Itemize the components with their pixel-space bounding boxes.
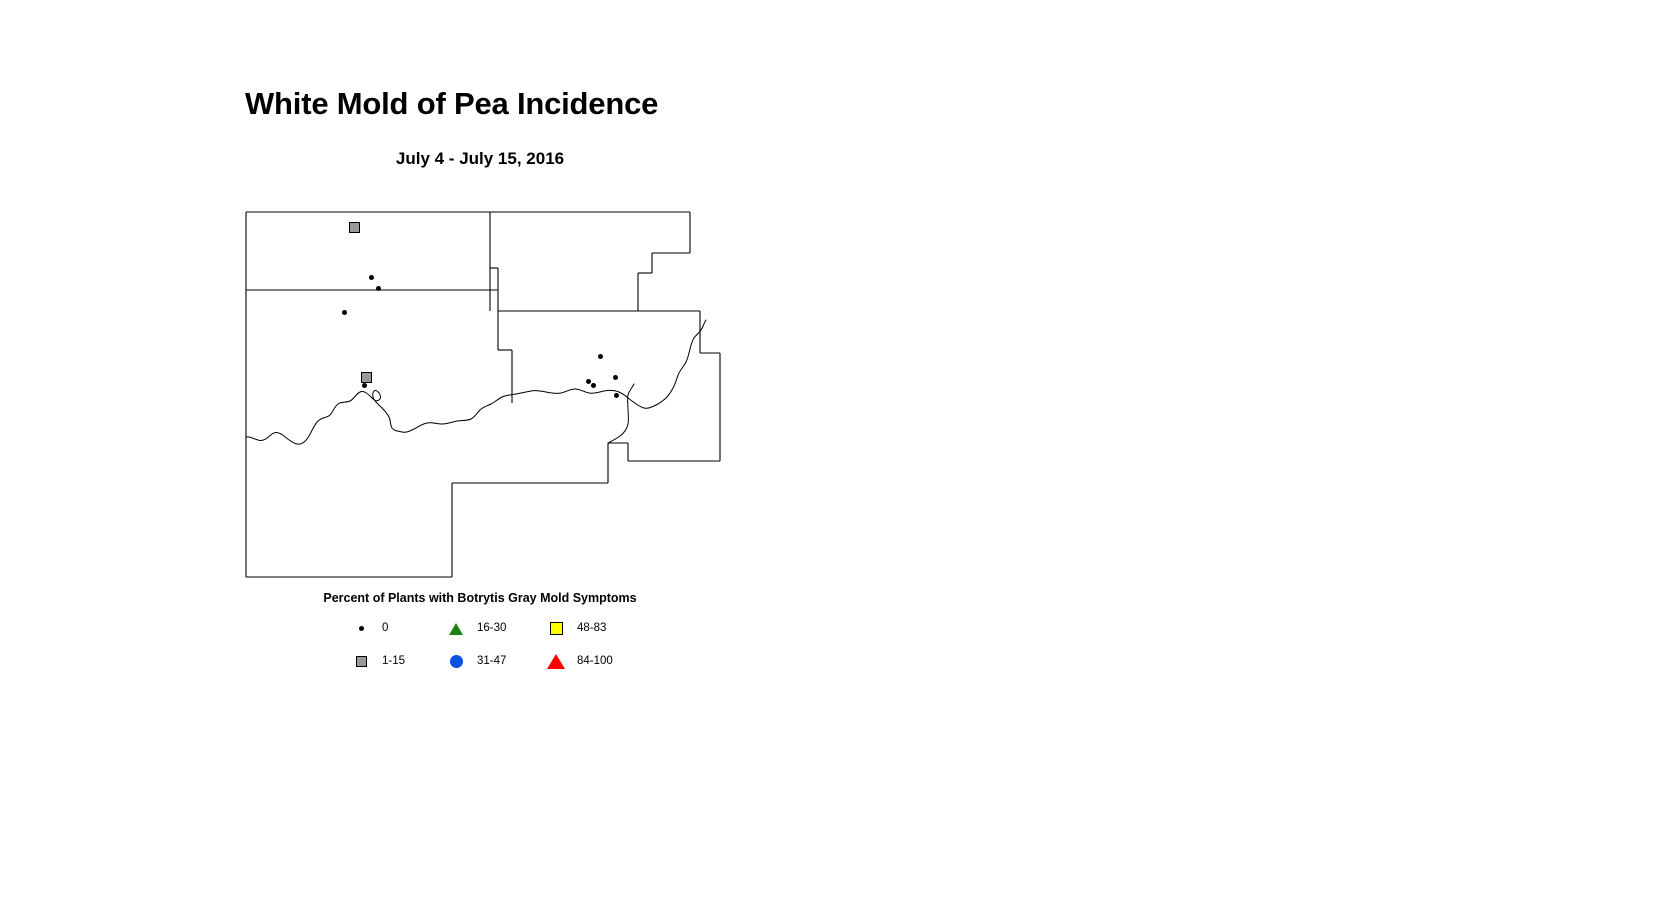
map-data-point-dot[interactable]: [342, 310, 347, 315]
map-data-point-dot[interactable]: [369, 275, 374, 280]
figure-canvas: White Mold of Pea Incidence July 4 - Jul…: [0, 0, 1673, 900]
square-marker-icon: [550, 622, 563, 635]
map-data-point-dot[interactable]: [598, 354, 603, 359]
legend-entry-1-15[interactable]: 1-15: [350, 654, 405, 670]
map-data-point-dot[interactable]: [586, 379, 591, 384]
legend-entry-label: 84-100: [577, 656, 613, 668]
map-data-point-square[interactable]: [361, 372, 372, 383]
page-subtitle: July 4 - July 15, 2016: [245, 150, 715, 167]
legend-entry-48-83[interactable]: 48-83: [545, 621, 606, 637]
legend-entry-31-47[interactable]: 31-47: [445, 654, 506, 670]
county-boundaries: [246, 212, 720, 577]
legend-swatch-triangle-icon: [445, 621, 467, 637]
legend-swatch-circle-icon: [445, 654, 467, 670]
map-panel: [240, 205, 735, 590]
page-title: White Mold of Pea Incidence: [245, 88, 658, 119]
legend-entry-label: 0: [382, 623, 388, 635]
square-marker-icon: [356, 656, 367, 667]
map-data-point-dot[interactable]: [376, 286, 381, 291]
river-boundary: [246, 320, 706, 444]
legend-swatch-square-icon: [545, 621, 567, 637]
map-data-point-dot[interactable]: [591, 383, 596, 388]
legend-entry-84-100[interactable]: 84-100: [545, 654, 613, 670]
dot-marker-icon: [359, 626, 364, 631]
legend-swatch-triangle-icon: [545, 654, 567, 670]
legend-entry-label: 16-30: [477, 623, 506, 635]
map-legend: Percent of Plants with Botrytis Gray Mol…: [245, 592, 715, 683]
legend-entry-0[interactable]: 0: [350, 621, 388, 637]
legend-entry-grid: 01-1516-3031-4748-8384-100: [245, 621, 715, 683]
circle-marker-icon: [450, 655, 463, 668]
legend-entry-label: 31-47: [477, 656, 506, 668]
triangle-marker-icon: [547, 654, 565, 669]
legend-entry-16-30[interactable]: 16-30: [445, 621, 506, 637]
triangle-marker-icon: [449, 623, 463, 635]
legend-swatch-square-icon: [350, 654, 372, 670]
legend-entry-label: 1-15: [382, 656, 405, 668]
legend-swatch-dot-icon: [350, 621, 372, 637]
map-data-point-dot[interactable]: [362, 383, 367, 388]
county-map-svg: [240, 205, 735, 590]
map-data-point-square[interactable]: [349, 222, 360, 233]
legend-entry-label: 48-83: [577, 623, 606, 635]
map-data-point-dot[interactable]: [614, 393, 619, 398]
legend-title: Percent of Plants with Botrytis Gray Mol…: [245, 592, 715, 605]
map-data-point-dot[interactable]: [613, 375, 618, 380]
